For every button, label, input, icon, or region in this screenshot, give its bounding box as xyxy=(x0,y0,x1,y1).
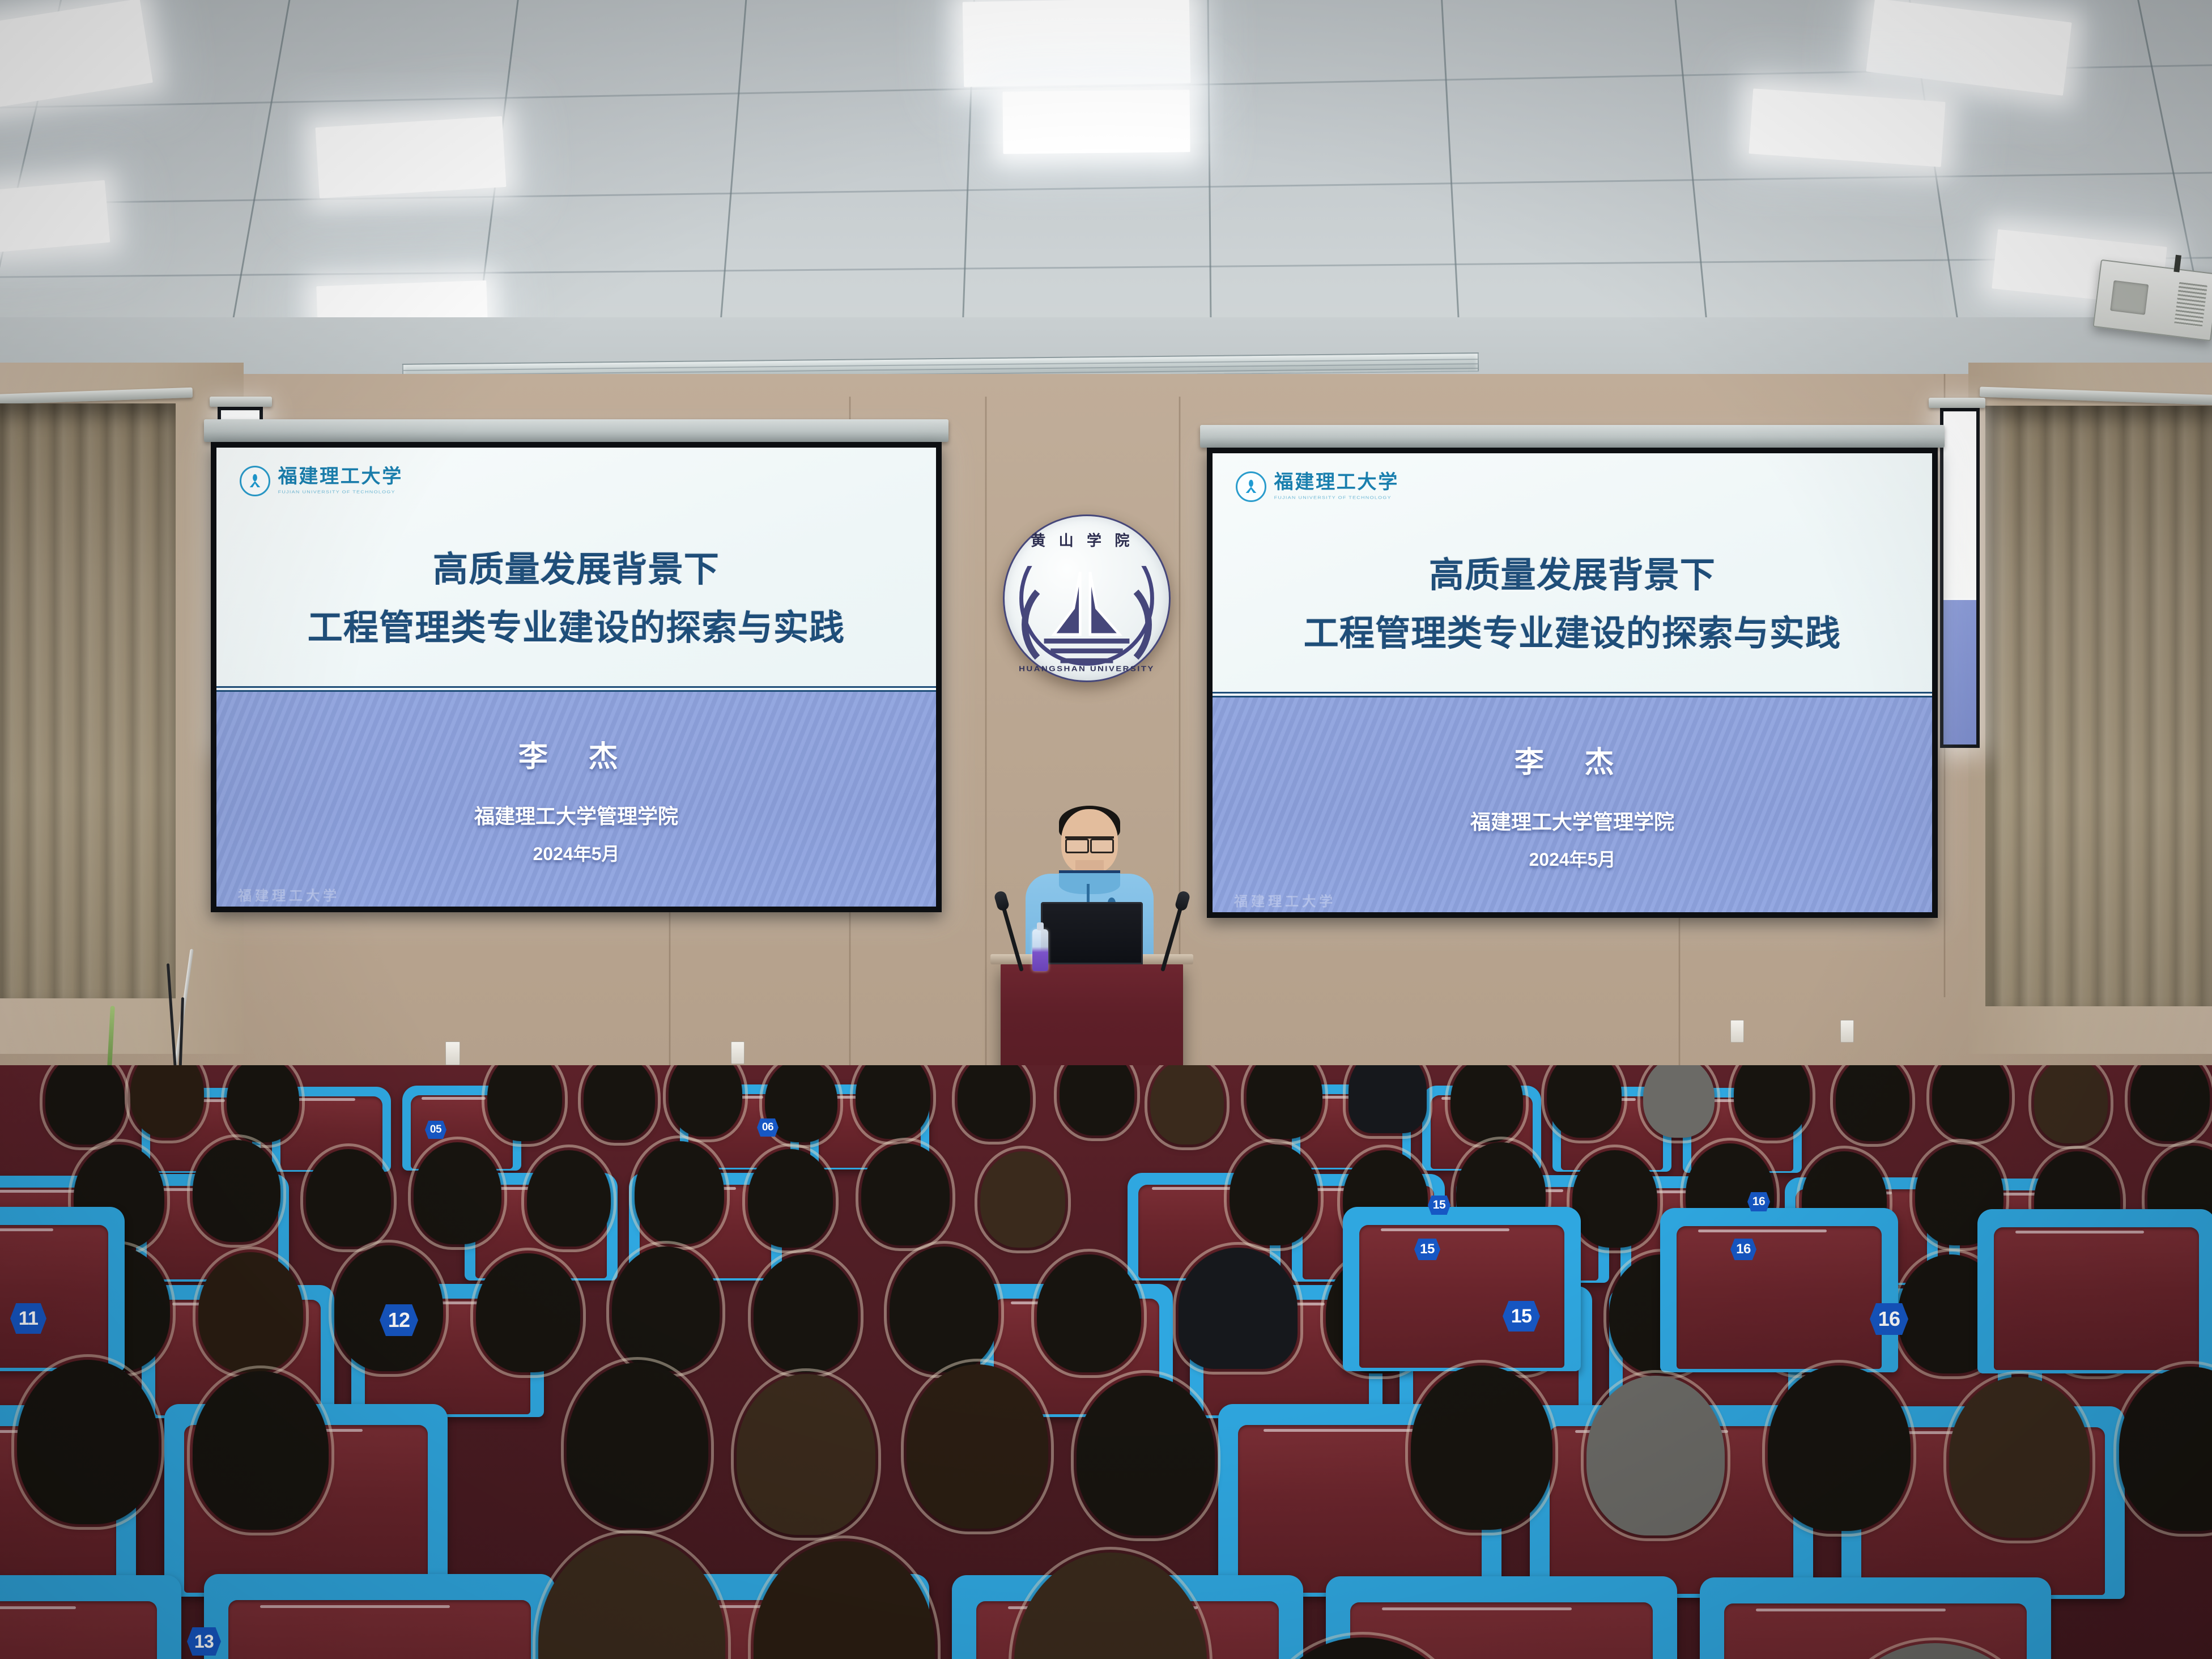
audience-head xyxy=(980,1151,1065,1248)
audience-head xyxy=(193,1140,280,1242)
ceiling-projector xyxy=(2092,260,2212,342)
audience-head xyxy=(1768,1366,1911,1531)
slide-title-line1: 高质量发展背景下 xyxy=(433,541,720,592)
wall-emblem-en-name: HUANGSHAN UNIVERSITY xyxy=(1005,665,1169,673)
audience-head-with-cap xyxy=(1349,1065,1427,1133)
curtain-rod-left-inner xyxy=(210,397,272,407)
suspended-panel-ceiling xyxy=(0,0,2212,391)
slide-left: 福建理工大学 FUJIAN UNIVERSITY OF TECHNOLOGY 高… xyxy=(216,448,936,907)
slide-watermark: 福建理工大学 xyxy=(1234,890,1336,910)
seat-badge: 16 xyxy=(1747,1192,1770,1211)
ceiling-light-panel xyxy=(315,116,506,198)
slide-logo-en: FUJIAN UNIVERSITY OF TECHNOLOGY xyxy=(1274,496,1399,500)
audience-head xyxy=(2034,1065,2108,1143)
slide-logo-cn: 福建理工大学 xyxy=(278,467,403,487)
wall-switch-plate[interactable] xyxy=(1840,1020,1854,1043)
seat[interactable] xyxy=(0,1207,125,1371)
screen-valance-right xyxy=(1200,425,1945,448)
seat-badge: 13 xyxy=(187,1627,221,1656)
seat-badge: 11 xyxy=(10,1303,46,1334)
audience-head xyxy=(227,1065,299,1142)
seat-badge: 16 xyxy=(1730,1239,1756,1260)
audience-head xyxy=(737,1374,875,1535)
slide-date: 2024年5月 xyxy=(1529,845,1616,871)
curtain-left xyxy=(0,403,176,998)
slide-author: 李 杰 xyxy=(1515,738,1630,781)
audience-head xyxy=(198,1252,303,1372)
slide-logo-en: FUJIAN UNIVERSITY OF TECHNOLOGY xyxy=(278,490,403,494)
glasses-icon xyxy=(1065,836,1114,850)
audience-head xyxy=(476,1253,580,1372)
seat[interactable] xyxy=(204,1574,555,1659)
slide-date: 2024年5月 xyxy=(533,840,620,866)
window-right xyxy=(1940,408,1980,748)
audience-head xyxy=(1734,1065,1810,1138)
seat-badge: 15 xyxy=(1503,1301,1540,1332)
ceiling-light-panel xyxy=(0,0,153,109)
audience-head xyxy=(567,1363,708,1528)
audience-head xyxy=(1450,1065,1523,1142)
audience-head xyxy=(635,1141,724,1244)
audience-head xyxy=(527,1150,611,1247)
audience-head xyxy=(1572,1150,1657,1248)
slide-logo-right: 福建理工大学 FUJIAN UNIVERSITY OF TECHNOLOGY xyxy=(1213,464,1932,509)
audience-head xyxy=(1077,1376,1215,1535)
fujian-university-emblem-icon xyxy=(240,466,270,496)
slide-right: 福建理工大学 FUJIAN UNIVERSITY OF TECHNOLOGY 高… xyxy=(1213,453,1932,912)
seat[interactable] xyxy=(1977,1209,2212,1373)
audience-head xyxy=(856,1065,930,1139)
slide-affiliation: 福建理工大学管理学院 xyxy=(474,800,678,829)
ceiling-light-panel xyxy=(1866,0,2071,96)
ceiling-light-panel xyxy=(0,180,110,256)
water-bottle[interactable] xyxy=(1032,929,1048,971)
audience-head xyxy=(193,1371,329,1530)
audience-head xyxy=(1060,1065,1134,1135)
audience-head xyxy=(487,1065,562,1141)
ceiling-light-panel xyxy=(963,0,1191,87)
laptop[interactable] xyxy=(1041,902,1143,964)
seat-badge: 05 xyxy=(425,1121,446,1139)
seat[interactable] xyxy=(1343,1207,1581,1371)
audience-head xyxy=(1037,1254,1141,1372)
audience-head xyxy=(306,1149,391,1247)
audience-head xyxy=(2130,1065,2210,1141)
seat-badge: 12 xyxy=(380,1304,418,1336)
wall-switch-plate[interactable] xyxy=(1730,1020,1744,1043)
slide-author: 李 杰 xyxy=(518,733,634,775)
audience-head xyxy=(130,1065,204,1138)
audience-head xyxy=(907,1364,1048,1529)
seat[interactable] xyxy=(1660,1208,1898,1372)
audience-head xyxy=(1949,1377,2090,1538)
slide-divider-rule xyxy=(1213,692,1932,697)
slide-watermark: 福建理工大学 xyxy=(238,884,340,904)
seat[interactable] xyxy=(0,1575,181,1659)
audience-head xyxy=(1411,1366,1552,1530)
lecture-hall-photo: 黄山学院 HUANGSHAN UNIVERSITY xyxy=(0,0,2212,1659)
audience-head xyxy=(958,1065,1030,1139)
slide-title-line2: 工程管理类专业建设的探索与实践 xyxy=(308,599,845,650)
audience-head xyxy=(1247,1065,1322,1139)
seat-badge: 06 xyxy=(757,1118,779,1137)
audience-head xyxy=(584,1065,655,1140)
projection-screen-left: 福建理工大学 FUJIAN UNIVERSITY OF TECHNOLOGY 高… xyxy=(211,442,942,912)
audience-head xyxy=(414,1142,501,1244)
sailboat-emblem-icon xyxy=(1005,516,1169,680)
audience-head xyxy=(861,1143,950,1245)
audience-head xyxy=(748,1149,833,1248)
curtain-right xyxy=(1985,406,2212,1006)
audience-head xyxy=(1547,1065,1622,1138)
seat-badge: 15 xyxy=(1414,1239,1440,1260)
seat[interactable] xyxy=(1700,1577,2051,1659)
wall-switch-plate[interactable] xyxy=(445,1041,460,1065)
audience-head xyxy=(890,1247,998,1372)
screen-valance-left xyxy=(204,419,948,442)
curtain-rod-right-inner xyxy=(1929,398,1985,408)
ceiling-light-panel xyxy=(1749,88,1945,167)
audience-head xyxy=(669,1065,742,1137)
audience-head xyxy=(1932,1065,2009,1139)
audience-head xyxy=(17,1360,159,1524)
seat-badge: 16 xyxy=(1870,1303,1908,1335)
slide-logo-left: 福建理工大学 FUJIAN UNIVERSITY OF TECHNOLOGY xyxy=(216,458,936,504)
slide-title-line1: 高质量发展背景下 xyxy=(1429,546,1716,597)
audience-head xyxy=(1150,1065,1224,1145)
audience-head xyxy=(1230,1145,1318,1245)
audience-head xyxy=(1643,1065,1715,1138)
audience-head xyxy=(612,1247,720,1371)
audience-head xyxy=(45,1065,125,1145)
slide-logo-cn: 福建理工大学 xyxy=(1274,473,1399,492)
wall-switch-plate[interactable] xyxy=(731,1041,745,1064)
audience-head xyxy=(1586,1376,1725,1535)
fujian-university-emblem-icon xyxy=(1236,471,1266,502)
slide-divider-rule xyxy=(216,686,936,692)
slide-title-line2: 工程管理类专业建设的探索与实践 xyxy=(1304,605,1841,656)
seat-badge: 15 xyxy=(1428,1196,1450,1215)
huangshan-university-wall-emblem: 黄山学院 HUANGSHAN UNIVERSITY xyxy=(1003,514,1171,682)
audience-seating xyxy=(0,1065,2212,1659)
projection-screen-right: 福建理工大学 FUJIAN UNIVERSITY OF TECHNOLOGY 高… xyxy=(1207,448,1938,918)
ceiling-light-panel xyxy=(1002,90,1190,154)
audience-head xyxy=(1836,1065,1909,1141)
slide-affiliation: 福建理工大学管理学院 xyxy=(1470,806,1674,835)
audience-head-with-cap xyxy=(1179,1248,1298,1369)
audience-head xyxy=(754,1254,858,1372)
